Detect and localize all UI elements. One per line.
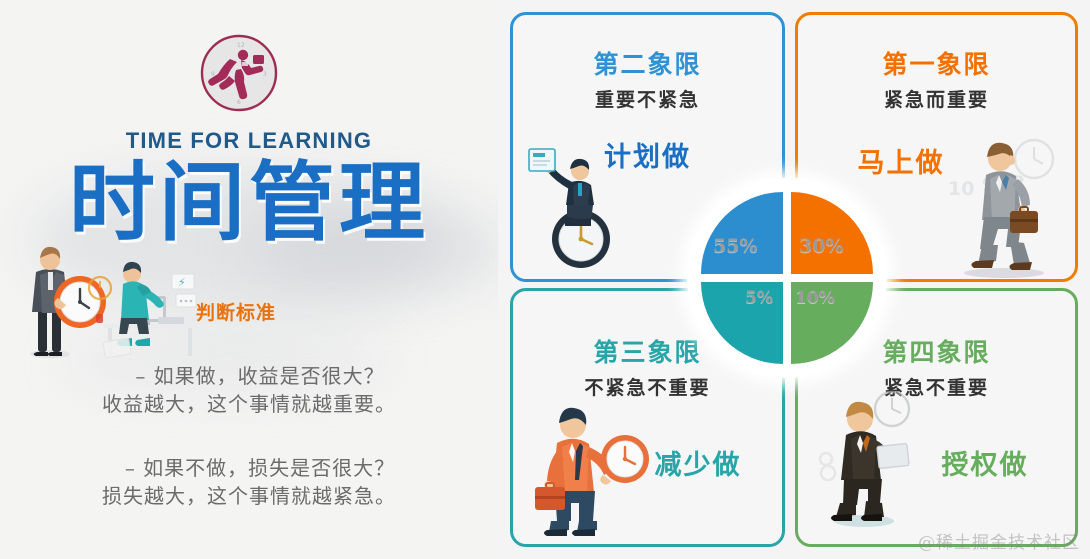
quadrant-subtitle: 紧急而重要 — [798, 85, 1075, 112]
criteria-label: 判断标准 — [196, 298, 276, 325]
man-holding-clock-icon — [529, 401, 669, 541]
quadrant-subtitle: 不紧急不重要 — [513, 373, 782, 400]
criteria-answer: 收益越大，这个事情就越重要。 — [0, 390, 498, 418]
office-desk-illustration: ⚡ — [8, 236, 228, 361]
pie-label-q2: 55% — [713, 235, 758, 257]
quadrant-title: 第二象限 — [513, 45, 782, 81]
brand-subtitle-en: TIME FOR LEARNING — [0, 128, 498, 154]
criteria-question: – 如果做，收益是否很大？ — [0, 362, 498, 390]
quadrant-pie-chart: 55% 30% 5% 10% — [687, 178, 887, 378]
infographic-canvas: 123 69 TIME FOR LEARNING 时间管理 — [0, 0, 1090, 559]
runner-in-clock-icon: 123 69 — [197, 31, 281, 115]
pie-label-q1: 30% — [799, 235, 844, 257]
svg-text:12: 12 — [237, 42, 245, 49]
man-on-unicycle-clock-icon — [523, 143, 633, 271]
svg-text:⚡: ⚡ — [178, 276, 186, 289]
quadrant-subtitle: 重要不紧急 — [513, 85, 782, 112]
svg-text:6: 6 — [237, 99, 241, 106]
pie-svg — [697, 188, 877, 368]
pie-slice-q1 — [791, 192, 873, 274]
criteria-block-benefit: – 如果做，收益是否很大？ 收益越大，这个事情就越重要。 — [0, 362, 498, 419]
svg-text:10: 10 — [948, 178, 974, 200]
quadrant-title: 第一象限 — [798, 45, 1075, 81]
pie-label-q4: 10% — [795, 288, 835, 308]
criteria-block-loss: – 如果不做，损失是否很大？ 损失越大，这个事情就越紧急。 — [0, 454, 498, 511]
watermark: @稀土掘金技术社区 — [918, 528, 1080, 553]
man-handing-document-icon — [816, 383, 946, 533]
svg-text:3: 3 — [263, 71, 267, 78]
page-title: 时间管理 — [0, 160, 498, 248]
criteria-question: – 如果不做，损失是否很大？ — [0, 454, 498, 482]
pie-slice-q2 — [701, 192, 783, 274]
businessman-walking-briefcase-icon: 109 26 — [948, 133, 1076, 283]
pie-label-q3: 5% — [745, 288, 773, 308]
title-panel: 123 69 TIME FOR LEARNING 时间管理 — [0, 0, 498, 559]
criteria-answer: 损失越大，这个事情就越紧急。 — [0, 482, 498, 510]
